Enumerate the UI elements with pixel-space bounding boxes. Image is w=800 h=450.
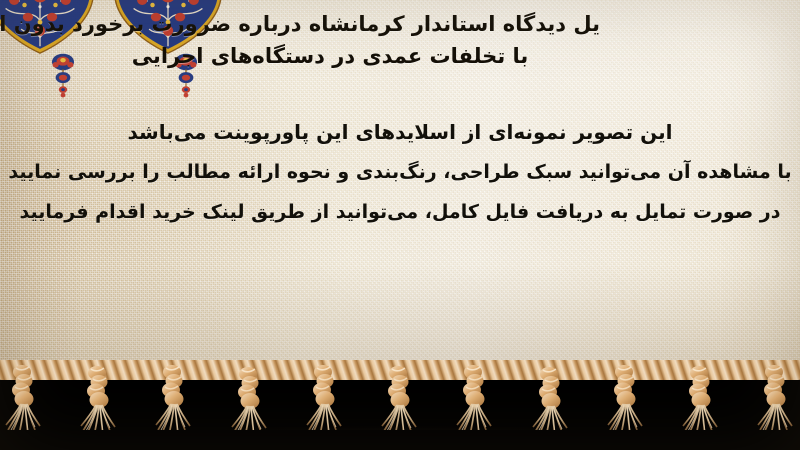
tassel [156,365,190,435]
bottom-black-strip [0,430,800,450]
title-line-1: یل دیدگاه استاندار کرمانشاه درباره ضرورت… [0,8,600,40]
title-line-2: با تخلفات عمدی در دستگاه‌های اجرایی [0,40,660,72]
body-line-1: این تصویر نمونه‌ای از اسلایدهای این پاور… [0,112,800,152]
body-line-3: در صورت تمایل به دریافت فایل کامل، می‌تو… [0,192,800,232]
tassel [6,365,40,435]
tassel [382,366,416,436]
tassel [683,366,717,436]
tassel [457,365,491,435]
tassel [608,365,642,435]
slide-title: یل دیدگاه استاندار کرمانشاه درباره ضرورت… [0,8,790,72]
slide-body: این تصویر نمونه‌ای از اسلایدهای این پاور… [0,112,800,232]
tassel [758,365,792,435]
tassel [307,365,341,435]
slide-canvas: یل دیدگاه استاندار کرمانشاه درباره ضرورت… [0,0,800,450]
tassel [81,366,115,436]
tassel [533,367,567,437]
body-line-2: با مشاهده آن می‌توانید سبک طراحی، رنگ‌بن… [0,152,800,192]
tassel [232,367,266,437]
